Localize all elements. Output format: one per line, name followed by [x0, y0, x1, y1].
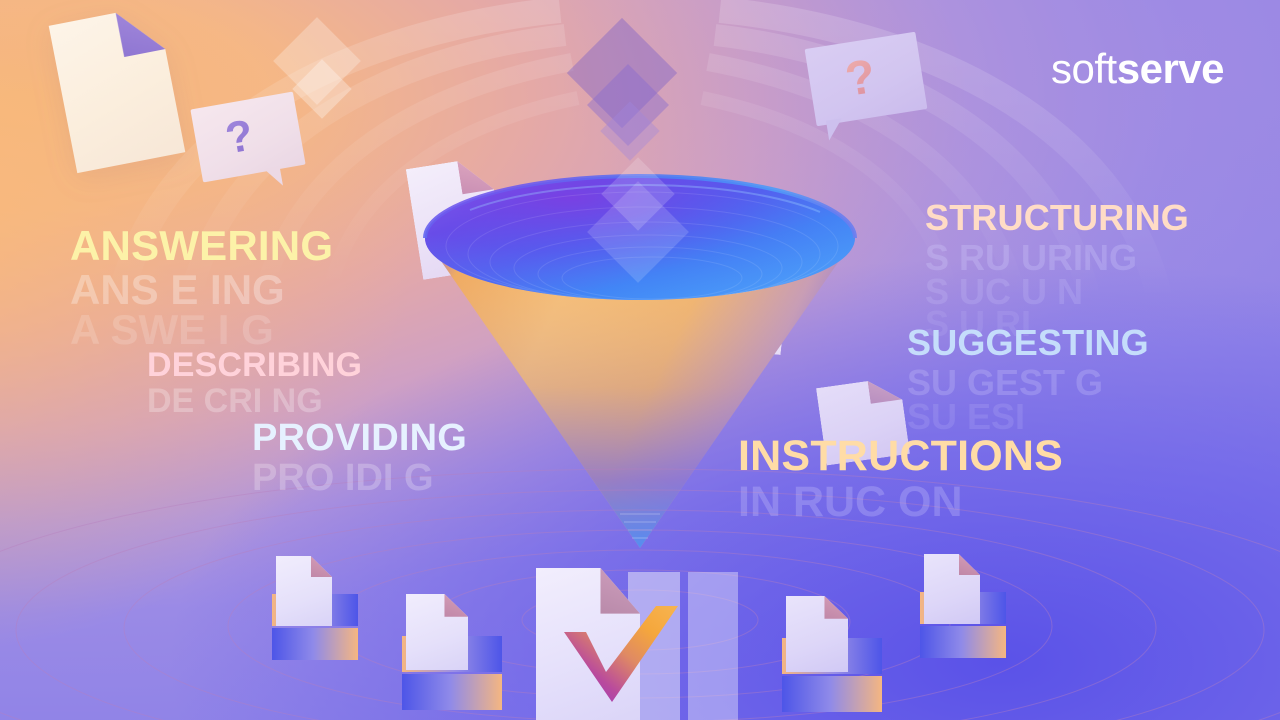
doc-sheet-fold — [959, 554, 980, 575]
logo-serve: serve — [1117, 45, 1224, 92]
doc-sheet-body — [406, 594, 468, 670]
softserve-logo: softserve — [1051, 48, 1224, 90]
doc-bar-lower — [272, 628, 358, 660]
output-doc-5 — [920, 554, 1006, 674]
document-sheet — [49, 5, 186, 173]
document-pale-center — [719, 267, 789, 355]
question-bubble-right: ? — [805, 32, 928, 127]
question-bubble-left: ? — [190, 92, 305, 183]
document-fold-corner — [457, 156, 494, 194]
word-group-instructions: IN RUC ONINSTRUCTIONS — [738, 435, 1063, 478]
word-group-answering: A SWE I GANS E INGANSWERING — [70, 225, 333, 267]
word-echo-structuring-1: S UC U N — [925, 274, 1083, 310]
document-large-cream — [49, 5, 186, 173]
word-answering: ANSWERING — [70, 225, 333, 267]
doc-bar-lower — [920, 626, 1006, 658]
output-doc-2 — [402, 594, 502, 720]
diamond-stack-funnel — [596, 168, 706, 278]
document-fold-corner — [763, 271, 789, 298]
word-structuring: STRUCTURING — [925, 200, 1189, 236]
doc-bar-lower — [402, 674, 502, 710]
word-group-structuring: S U RIS UC U NS RU URINGSTRUCTURING — [925, 200, 1189, 236]
word-echo-answering-1: ANS E ING — [70, 269, 285, 311]
checkmark-icon — [560, 606, 684, 706]
document-sheet — [719, 267, 789, 355]
doc-sheet-body — [786, 596, 848, 672]
word-group-suggesting: SU ESISU GEST GSUGGESTING — [907, 325, 1149, 361]
word-group-describing: DE CRI NGDESCRIBING — [147, 348, 362, 382]
word-providing: PROVIDING — [252, 419, 467, 457]
document-pale-left — [406, 156, 506, 280]
doc-sheet — [924, 554, 980, 624]
doc-panel-back-2 — [688, 572, 738, 720]
bubble-tail — [264, 166, 283, 188]
word-group-providing: PRO IDI GPROVIDING — [252, 419, 467, 457]
word-echo-suggesting-0: SU ESI — [907, 399, 1025, 435]
logo-soft: soft — [1051, 45, 1117, 92]
word-instructions: INSTRUCTIONS — [738, 435, 1063, 478]
word-suggesting: SUGGESTING — [907, 325, 1149, 361]
doc-sheet-body — [276, 556, 332, 626]
funnel-tip-rings — [620, 514, 660, 538]
doc-sheet — [276, 556, 332, 626]
doc-sheet-body — [924, 554, 980, 624]
word-echo-suggesting-1: SU GEST G — [907, 365, 1103, 401]
hero-canvas: ? ? — [0, 0, 1280, 720]
output-doc-4 — [782, 596, 882, 720]
doc-sheet-fold — [444, 594, 468, 617]
word-echo-structuring-2: S RU URING — [925, 240, 1137, 276]
diamond-absorb-bottom — [587, 181, 689, 283]
document-fold-corner — [116, 5, 166, 57]
diamond-stack-center — [565, 32, 725, 162]
doc-sheet — [786, 596, 848, 672]
document-sheet — [406, 156, 506, 280]
bubble-tail — [826, 118, 845, 140]
word-describing: DESCRIBING — [147, 348, 362, 382]
doc-sheet-fold — [824, 596, 848, 619]
output-doc-checkmark — [536, 568, 748, 720]
word-echo-describing-0: DE CRI NG — [147, 384, 323, 418]
word-echo-answering-0: A SWE I G — [70, 309, 274, 351]
doc-bar-lower — [782, 676, 882, 712]
document-fold-corner — [868, 377, 903, 405]
word-echo-instructions-0: IN RUC ON — [738, 481, 963, 524]
output-doc-1 — [272, 556, 358, 676]
doc-sheet — [406, 594, 468, 670]
word-echo-providing-0: PRO IDI G — [252, 459, 434, 497]
doc-sheet-fold — [311, 556, 332, 577]
